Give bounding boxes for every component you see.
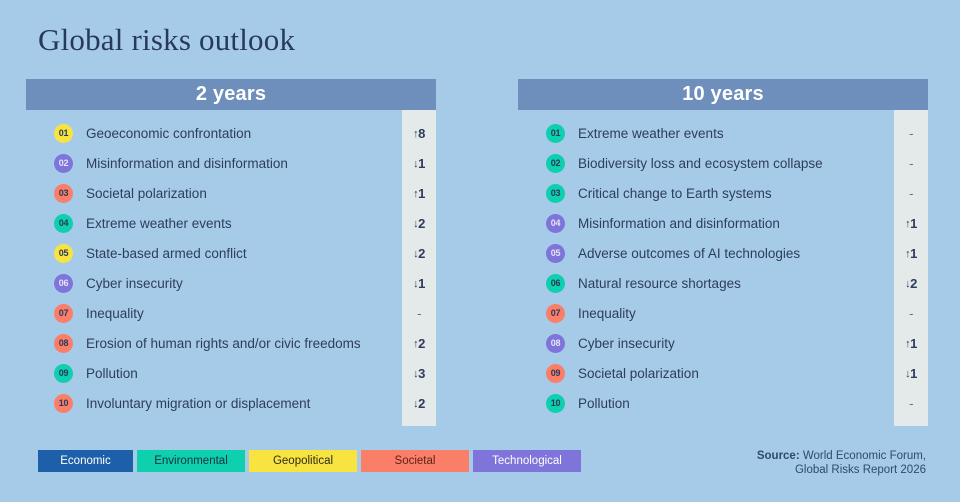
rank-change-up-icon: ↑1	[402, 186, 436, 201]
risk-row[interactable]: 02Biodiversity loss and ecosystem collap…	[518, 148, 928, 178]
rank-change-up-icon: ↑8	[402, 126, 436, 141]
change-value: 1	[910, 216, 917, 231]
rank-change-up-icon: ↑1	[894, 336, 928, 351]
rank-change-down-icon: ↓2	[402, 216, 436, 231]
risk-row[interactable]: 08Cyber insecurity↑1	[518, 328, 928, 358]
rank-change-none: -	[894, 306, 928, 321]
rank-badge: 07	[54, 304, 73, 323]
legend-item-geopolitical[interactable]: Geopolitical	[249, 450, 357, 472]
risk-label: Involuntary migration or displacement	[86, 396, 402, 411]
risk-label: Critical change to Earth systems	[578, 186, 894, 201]
change-value: 1	[418, 276, 425, 291]
risk-label: State-based armed conflict	[86, 246, 402, 261]
rank-badge: 10	[546, 394, 565, 413]
rank-badge: 08	[54, 334, 73, 353]
risk-panel: 10 years01Extreme weather events-02Biodi…	[518, 79, 928, 426]
panel-body: 01Extreme weather events-02Biodiversity …	[518, 110, 928, 426]
risk-row[interactable]: 06Cyber insecurity↓1	[26, 268, 436, 298]
change-value: 1	[418, 186, 425, 201]
change-arrow-icon: ↓	[413, 218, 418, 230]
change-arrow-icon: ↑	[905, 248, 910, 260]
page-title: Global risks outlook	[38, 22, 295, 58]
rank-badge: 04	[546, 214, 565, 233]
rank-badge: 07	[546, 304, 565, 323]
rank-badge: 03	[54, 184, 73, 203]
risk-label: Societal polarization	[86, 186, 402, 201]
category-legend: EconomicEnvironmentalGeopoliticalSocieta…	[38, 450, 581, 472]
risk-label: Extreme weather events	[578, 126, 894, 141]
risk-row[interactable]: 01Extreme weather events-	[518, 118, 928, 148]
rank-badge: 03	[546, 184, 565, 203]
source-label: Source:	[757, 450, 800, 462]
risk-row[interactable]: 02Misinformation and disinformation↓1	[26, 148, 436, 178]
rank-change-none: -	[894, 186, 928, 201]
rank-badge: 04	[54, 214, 73, 233]
change-value: 2	[418, 396, 425, 411]
panel-body: 01Geoeconomic confrontation↑802Misinform…	[26, 110, 436, 426]
change-value: 8	[418, 126, 425, 141]
rank-change-down-icon: ↓2	[402, 396, 436, 411]
risk-row[interactable]: 07Inequality-	[26, 298, 436, 328]
change-arrow-icon: ↓	[413, 158, 418, 170]
risk-label: Inequality	[578, 306, 894, 321]
risk-row[interactable]: 01Geoeconomic confrontation↑8	[26, 118, 436, 148]
change-value: 2	[418, 246, 425, 261]
source-line-1: World Economic Forum,	[800, 450, 926, 462]
risk-row[interactable]: 07Inequality-	[518, 298, 928, 328]
risk-row[interactable]: 03Critical change to Earth systems-	[518, 178, 928, 208]
risk-label: Natural resource shortages	[578, 276, 894, 291]
change-value: 1	[910, 336, 917, 351]
risk-label: Cyber insecurity	[578, 336, 894, 351]
risk-label: Misinformation and disinformation	[86, 156, 402, 171]
change-value: -	[909, 306, 913, 321]
rank-change-up-icon: ↑2	[402, 336, 436, 351]
rank-badge: 01	[54, 124, 73, 143]
risk-panel: 2 years01Geoeconomic confrontation↑802Mi…	[26, 79, 436, 426]
rank-badge: 09	[546, 364, 565, 383]
rank-change-down-icon: ↓1	[894, 366, 928, 381]
panel-header: 10 years	[518, 79, 928, 110]
risk-row[interactable]: 09Pollution↓3	[26, 358, 436, 388]
change-value: -	[909, 186, 913, 201]
risk-label: Misinformation and disinformation	[578, 216, 894, 231]
change-value: 1	[418, 156, 425, 171]
change-arrow-icon: ↓	[413, 368, 418, 380]
change-value: 3	[418, 366, 425, 381]
risk-rows: 01Geoeconomic confrontation↑802Misinform…	[26, 118, 436, 418]
change-arrow-icon: ↓	[905, 368, 910, 380]
risk-row[interactable]: 04Misinformation and disinformation↑1	[518, 208, 928, 238]
legend-item-societal[interactable]: Societal	[361, 450, 469, 472]
risk-rows: 01Extreme weather events-02Biodiversity …	[518, 118, 928, 418]
risk-row[interactable]: 03Societal polarization↑1	[26, 178, 436, 208]
rank-change-down-icon: ↓1	[402, 276, 436, 291]
risk-row[interactable]: 08Erosion of human rights and/or civic f…	[26, 328, 436, 358]
rank-change-up-icon: ↑1	[894, 216, 928, 231]
rank-change-down-icon: ↓3	[402, 366, 436, 381]
rank-badge: 05	[54, 244, 73, 263]
risk-row[interactable]: 10Pollution-	[518, 388, 928, 418]
risk-label: Societal polarization	[578, 366, 894, 381]
risk-row[interactable]: 04Extreme weather events↓2	[26, 208, 436, 238]
risk-label: Cyber insecurity	[86, 276, 402, 291]
change-arrow-icon: ↑	[413, 128, 418, 140]
change-value: 1	[910, 366, 917, 381]
change-arrow-icon: ↓	[413, 278, 418, 290]
change-arrow-icon: ↑	[413, 188, 418, 200]
change-value: 2	[418, 216, 425, 231]
panel-header: 2 years	[26, 79, 436, 110]
risk-row[interactable]: 06Natural resource shortages↓2	[518, 268, 928, 298]
rank-badge: 06	[54, 274, 73, 293]
change-arrow-icon: ↑	[905, 218, 910, 230]
rank-change-down-icon: ↓1	[402, 156, 436, 171]
rank-change-none: -	[402, 306, 436, 321]
risk-label: Biodiversity loss and ecosystem collapse	[578, 156, 894, 171]
change-arrow-icon: ↓	[413, 398, 418, 410]
source-note: Source: World Economic Forum, Global Ris…	[757, 449, 926, 477]
risk-label: Geoeconomic confrontation	[86, 126, 402, 141]
source-line-2: Global Risks Report 2026	[795, 464, 926, 476]
change-arrow-icon: ↓	[413, 248, 418, 260]
risk-row[interactable]: 05Adverse outcomes of AI technologies↑1	[518, 238, 928, 268]
rank-change-none: -	[894, 396, 928, 411]
rank-change-none: -	[894, 156, 928, 171]
change-arrow-icon: ↓	[905, 278, 910, 290]
rank-change-down-icon: ↓2	[402, 246, 436, 261]
change-value: -	[417, 306, 421, 321]
rank-badge: 06	[546, 274, 565, 293]
change-value: 2	[418, 336, 425, 351]
rank-change-down-icon: ↓2	[894, 276, 928, 291]
rank-badge: 01	[546, 124, 565, 143]
change-value: -	[909, 396, 913, 411]
risk-label: Adverse outcomes of AI technologies	[578, 246, 894, 261]
risk-row[interactable]: 10Involuntary migration or displacement↓…	[26, 388, 436, 418]
change-value: -	[909, 156, 913, 171]
legend-item-economic[interactable]: Economic	[38, 450, 133, 472]
legend-item-environmental[interactable]: Environmental	[137, 450, 245, 472]
risk-row[interactable]: 05State-based armed conflict↓2	[26, 238, 436, 268]
rank-badge: 05	[546, 244, 565, 263]
change-value: 2	[910, 276, 917, 291]
risk-label: Pollution	[578, 396, 894, 411]
risk-label: Erosion of human rights and/or civic fre…	[86, 336, 402, 351]
rank-change-up-icon: ↑1	[894, 246, 928, 261]
change-arrow-icon: ↑	[413, 338, 418, 350]
change-value: -	[909, 126, 913, 141]
risk-label: Extreme weather events	[86, 216, 402, 231]
change-arrow-icon: ↑	[905, 338, 910, 350]
rank-badge: 10	[54, 394, 73, 413]
risk-label: Inequality	[86, 306, 402, 321]
rank-badge: 02	[546, 154, 565, 173]
rank-badge: 08	[546, 334, 565, 353]
rank-badge: 02	[54, 154, 73, 173]
rank-badge: 09	[54, 364, 73, 383]
change-value: 1	[910, 246, 917, 261]
risk-label: Pollution	[86, 366, 402, 381]
rank-change-none: -	[894, 126, 928, 141]
legend-item-technological[interactable]: Technological	[473, 450, 581, 472]
risk-row[interactable]: 09Societal polarization↓1	[518, 358, 928, 388]
